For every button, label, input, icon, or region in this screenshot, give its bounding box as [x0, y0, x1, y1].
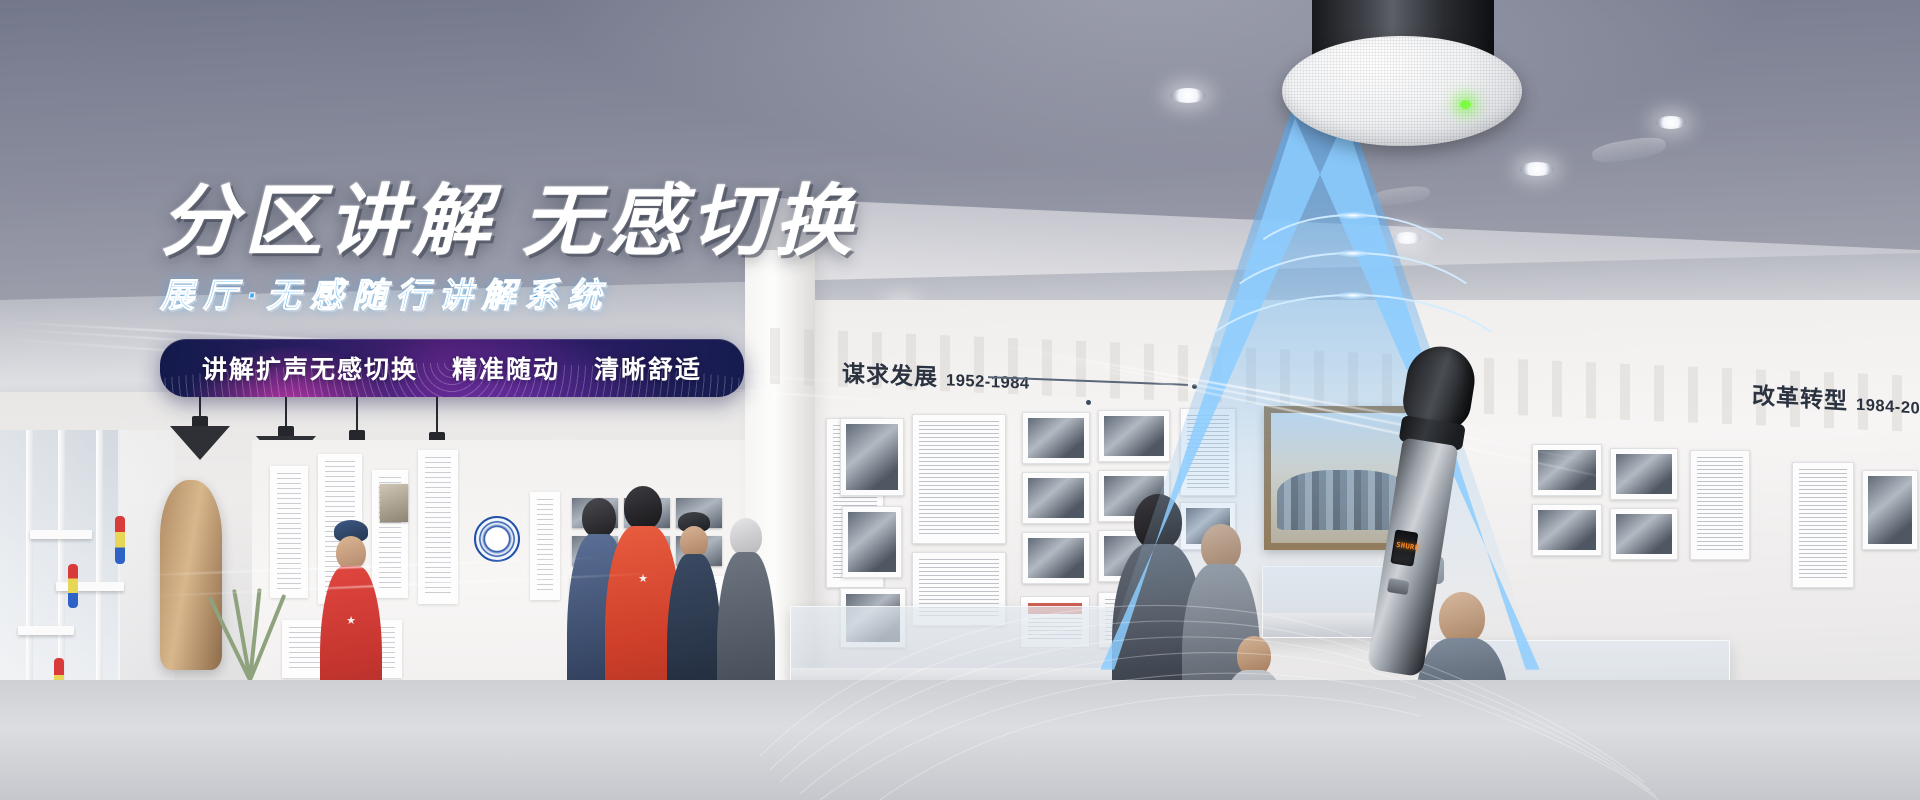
downlight-icon	[1656, 116, 1686, 129]
mic-power-button[interactable]	[1387, 577, 1410, 595]
feature-pill: 讲解扩声无感切换 精准随动 清晰舒适	[160, 339, 744, 397]
exhibit-panel	[530, 492, 560, 600]
headline-part-1: 分区讲解	[160, 177, 496, 265]
vest-logo: ★	[638, 574, 648, 585]
wall-section-title-text: 改革转型	[1752, 382, 1848, 414]
sound-field-mesh	[760, 470, 1660, 800]
exhibit-text-panel	[1690, 450, 1750, 560]
exhibit-frame	[1862, 470, 1918, 550]
wall-section-title-years: 1984-2010	[1856, 395, 1920, 419]
trophy-icon	[22, 580, 46, 628]
trophy-icon	[40, 478, 62, 530]
vest-logo: ★	[346, 616, 356, 627]
downlight-icon	[1170, 88, 1206, 103]
banner-subline: 展厅·无感随行讲解系统	[160, 268, 1060, 317]
feature-item-3: 清晰舒适	[594, 350, 702, 386]
exhibit-frame	[1022, 412, 1090, 464]
speaker-grille	[1282, 36, 1522, 146]
headline-part-2: 无感切换	[522, 177, 858, 265]
feature-item-1: 讲解扩声无感切换	[202, 350, 418, 386]
feature-item-2: 精准随动	[452, 350, 560, 386]
potted-plant	[228, 588, 272, 680]
speaker-status-led	[1460, 100, 1471, 109]
trophy-icon	[76, 630, 102, 682]
exhibit-text-panel	[1792, 462, 1854, 588]
banner-stage: 谋求发展1952-1984 改革转型1984-2010	[0, 0, 1920, 800]
trophy-icon	[72, 470, 90, 520]
exhibit-panel	[270, 466, 308, 598]
sculpture	[160, 480, 222, 670]
ceiling-speaker	[1282, 0, 1522, 146]
downlight-icon	[1520, 162, 1554, 176]
banner-headline: 分区讲解无感切换	[160, 182, 1060, 260]
mic-display-text: SHURE	[1396, 541, 1420, 553]
exhibit-panel	[418, 450, 458, 604]
school-emblem-icon	[474, 516, 520, 562]
exhibit-portrait	[380, 484, 408, 522]
banner-copy: 分区讲解无感切换 展厅·无感随行讲解系统 讲解扩声无感切换 精准随动 清晰舒适	[160, 182, 1060, 397]
exhibit-frame	[1098, 410, 1170, 462]
